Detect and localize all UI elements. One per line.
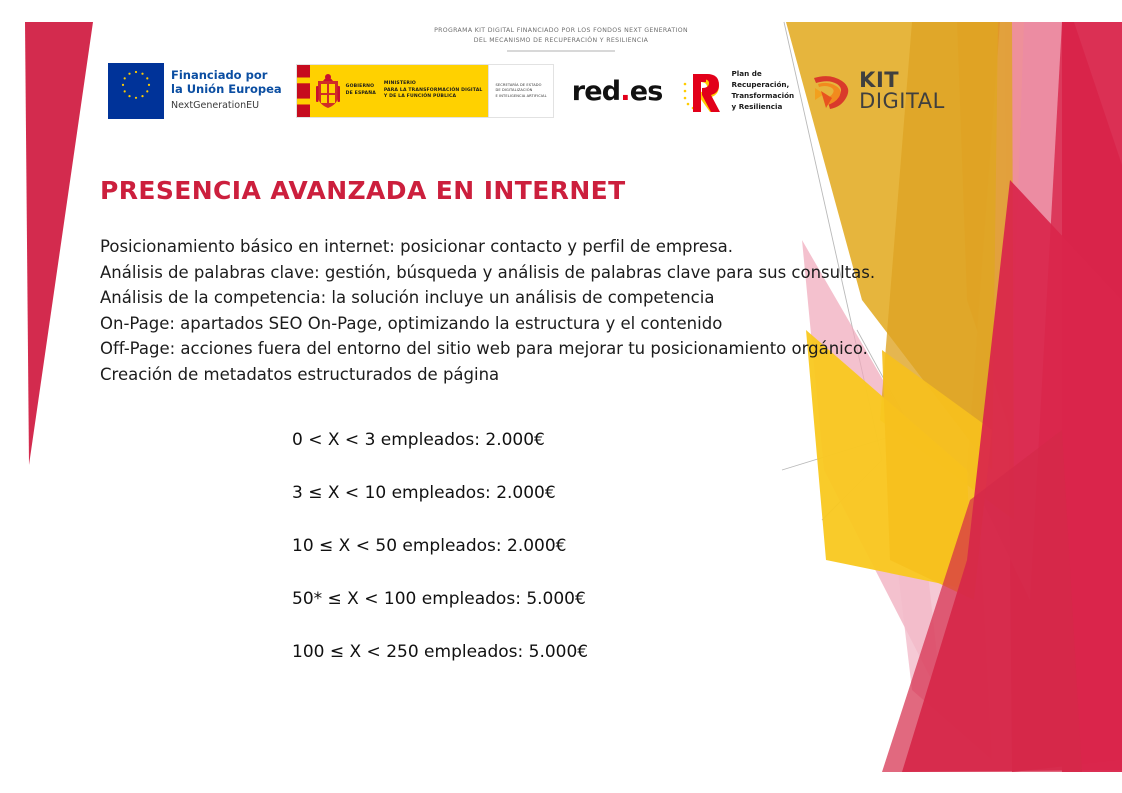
funding-caption-line-2: DEL MECANISMO DE RECUPERACIÓN Y RESILIEN…: [0, 36, 1122, 46]
funding-caption-block: PROGRAMA KIT DIGITAL FINANCIADO POR LOS …: [0, 26, 1122, 52]
gobierno-yellow-panel: GOBIERNO DE ESPAÑA MINISTERIO PARA LA TR…: [297, 65, 489, 117]
gobierno-de-espana-logo: GOBIERNO DE ESPAÑA MINISTERIO PARA LA TR…: [296, 64, 554, 118]
plan-recuperacion-logo: Plan de Recuperación, Transformación y R…: [681, 65, 795, 117]
plan-recuperacion-text: Plan de Recuperación, Transformación y R…: [732, 69, 795, 112]
eu-logo-line-1: Financiado por: [171, 68, 282, 82]
plan-line-4: y Resiliencia: [732, 102, 795, 113]
pricing-tier-item: 0 < X < 3 empleados: 2.000€: [292, 432, 588, 449]
gobierno-line-2: DE ESPAÑA: [346, 91, 376, 98]
plan-line-2: Recuperación,: [732, 80, 795, 91]
pricing-tier-list: 0 < X < 3 empleados: 2.000€ 3 ≤ X < 10 e…: [292, 432, 588, 697]
gobierno-line-1: GOBIERNO: [346, 84, 376, 91]
funding-caption-line-1: PROGRAMA KIT DIGITAL FINANCIADO POR LOS …: [0, 26, 1122, 36]
kit-digital-mark-icon: [808, 70, 854, 112]
spanish-flag-icon: [297, 65, 310, 117]
description-block: Posicionamiento básico en internet: posi…: [100, 234, 1050, 388]
page-title: PRESENCIA AVANZADA EN INTERNET: [100, 176, 626, 205]
plan-line-1: Plan de: [732, 69, 795, 80]
redes-part-1: red: [572, 76, 621, 107]
pricing-tier-item: 10 ≤ X < 50 empleados: 2.000€: [292, 538, 588, 555]
plan-recuperacion-r-icon: [681, 68, 727, 114]
secretaria-line-3: E INTELIGENCIA ARTIFICIAL: [495, 94, 546, 99]
pricing-tier-item: 100 ≤ X < 250 empleados: 5.000€: [292, 644, 588, 661]
plan-line-3: Transformación: [732, 91, 795, 102]
pricing-tier-item: 3 ≤ X < 10 empleados: 2.000€: [292, 485, 588, 502]
description-line: Análisis de la competencia: la solución …: [100, 285, 1050, 311]
secretaria-label: SECRETARÍA DE ESTADO DE DIGITALIZACIÓN E…: [495, 83, 546, 99]
description-line: Posicionamiento básico en internet: posi…: [100, 234, 1050, 260]
gobierno-label: GOBIERNO DE ESPAÑA: [346, 84, 376, 97]
ministerio-label: MINISTERIO PARA LA TRANSFORMACIÓN DIGITA…: [384, 81, 483, 101]
description-line: On-Page: apartados SEO On-Page, optimiza…: [100, 311, 1050, 337]
eu-logo-line-2: la Unión Europea: [171, 82, 282, 96]
redes-dot: .: [620, 76, 629, 107]
logo-row: Financiado por la Unión Europea NextGene…: [108, 58, 945, 124]
slide: PROGRAMA KIT DIGITAL FINANCIADO POR LOS …: [0, 0, 1122, 793]
kit-digital-line-2: DIGITAL: [859, 91, 945, 112]
description-line: Off-Page: acciones fuera del entorno del…: [100, 336, 1050, 362]
pricing-tier-item: 50* ≤ X < 100 empleados: 5.000€: [292, 591, 588, 608]
description-line: Análisis de palabras clave: gestión, bús…: [100, 260, 1050, 286]
funding-divider: [507, 50, 615, 52]
kit-digital-line-1: KIT: [859, 70, 945, 91]
eu-funding-logo: Financiado por la Unión Europea NextGene…: [108, 63, 282, 119]
description-line: Creación de metadatos estructurados de p…: [100, 362, 1050, 388]
ministerio-line-1: MINISTERIO: [384, 81, 483, 88]
eu-flag-icon: [108, 63, 164, 119]
redes-part-2: es: [630, 76, 663, 107]
kit-digital-text: KIT DIGITAL: [859, 70, 945, 113]
eu-logo-line-3: NextGenerationEU: [171, 99, 282, 113]
ministerio-line-3: Y DE LA FUNCIÓN PÚBLICA: [384, 94, 483, 101]
kit-digital-logo: KIT DIGITAL: [808, 64, 945, 118]
redes-logo: red.es: [568, 78, 667, 105]
eu-logo-text: Financiado por la Unión Europea NextGene…: [164, 63, 282, 119]
secretaria-panel: SECRETARÍA DE ESTADO DE DIGITALIZACIÓN E…: [488, 65, 552, 117]
spanish-coat-of-arms-icon: [315, 72, 341, 110]
